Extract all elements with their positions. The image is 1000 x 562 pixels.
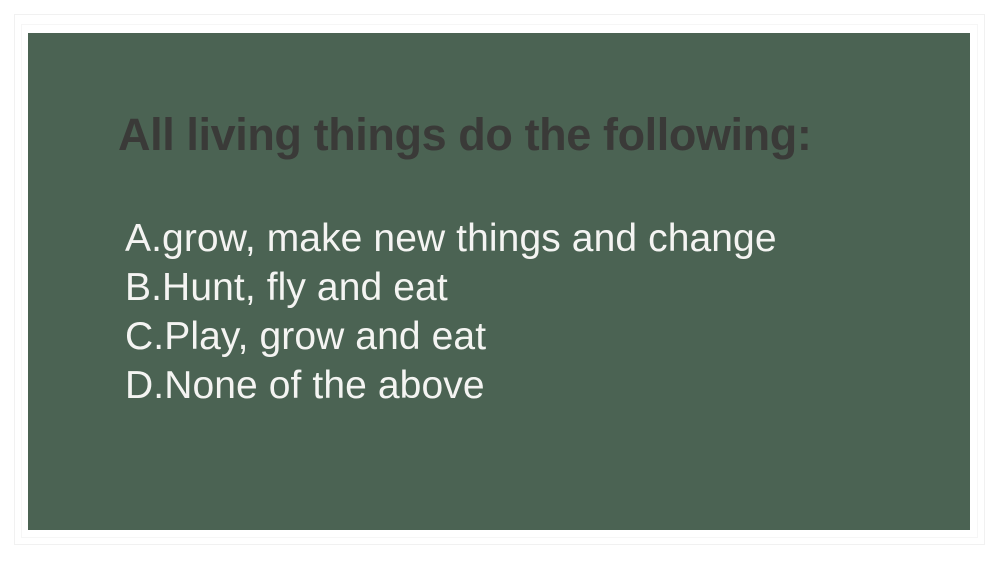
slide-title: All living things do the following: xyxy=(118,111,938,160)
answer-option-b: B.Hunt, fly and eat xyxy=(125,263,925,312)
slide-canvas: All living things do the following: A.gr… xyxy=(0,0,1000,562)
answer-option-c: C.Play, grow and eat xyxy=(125,312,925,361)
answer-option-a: A.grow, make new things and change xyxy=(125,214,925,263)
answer-options-list: A.grow, make new things and change B.Hun… xyxy=(125,214,925,410)
answer-option-d: D.None of the above xyxy=(125,361,925,410)
slide-content-panel: All living things do the following: A.gr… xyxy=(28,33,970,530)
